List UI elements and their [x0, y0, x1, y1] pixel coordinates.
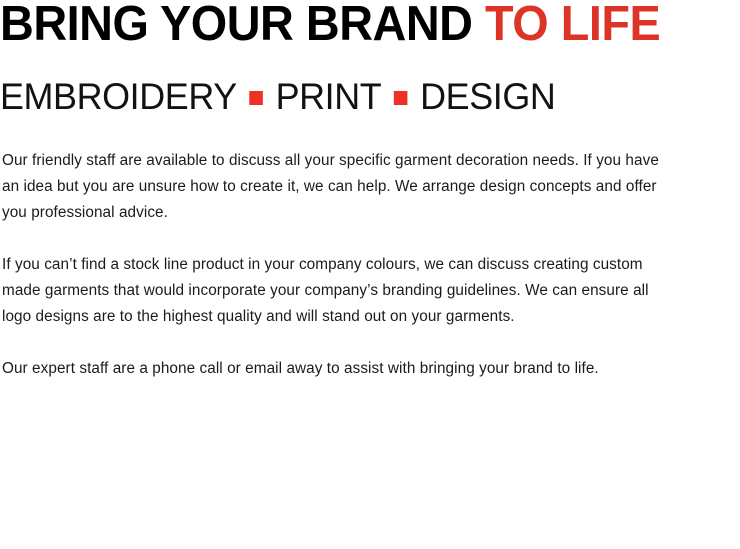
- page-headline: BRING YOUR BRAND TO LIFE: [0, 0, 660, 52]
- page-root: BRING YOUR BRAND TO LIFE EMBROIDERY PRIN…: [0, 0, 740, 549]
- service-item-print: PRINT: [276, 76, 382, 118]
- body-paragraph: Our expert staff are a phone call or ema…: [2, 356, 672, 382]
- body-paragraph: If you can’t find a stock line product i…: [2, 252, 672, 330]
- service-item-design: DESIGN: [420, 76, 555, 118]
- service-item-embroidery: EMBROIDERY: [0, 76, 237, 118]
- red-square-separator-icon: [394, 91, 408, 105]
- headline-accent-text: TO LIFE: [485, 0, 660, 51]
- red-square-separator-icon: [249, 91, 263, 105]
- body-copy: Our friendly staff are available to disc…: [2, 148, 672, 382]
- headline-primary-text: BRING YOUR BRAND: [0, 0, 472, 51]
- body-paragraph: Our friendly staff are available to disc…: [2, 148, 672, 226]
- services-subheading: EMBROIDERY PRINT DESIGN: [0, 76, 555, 118]
